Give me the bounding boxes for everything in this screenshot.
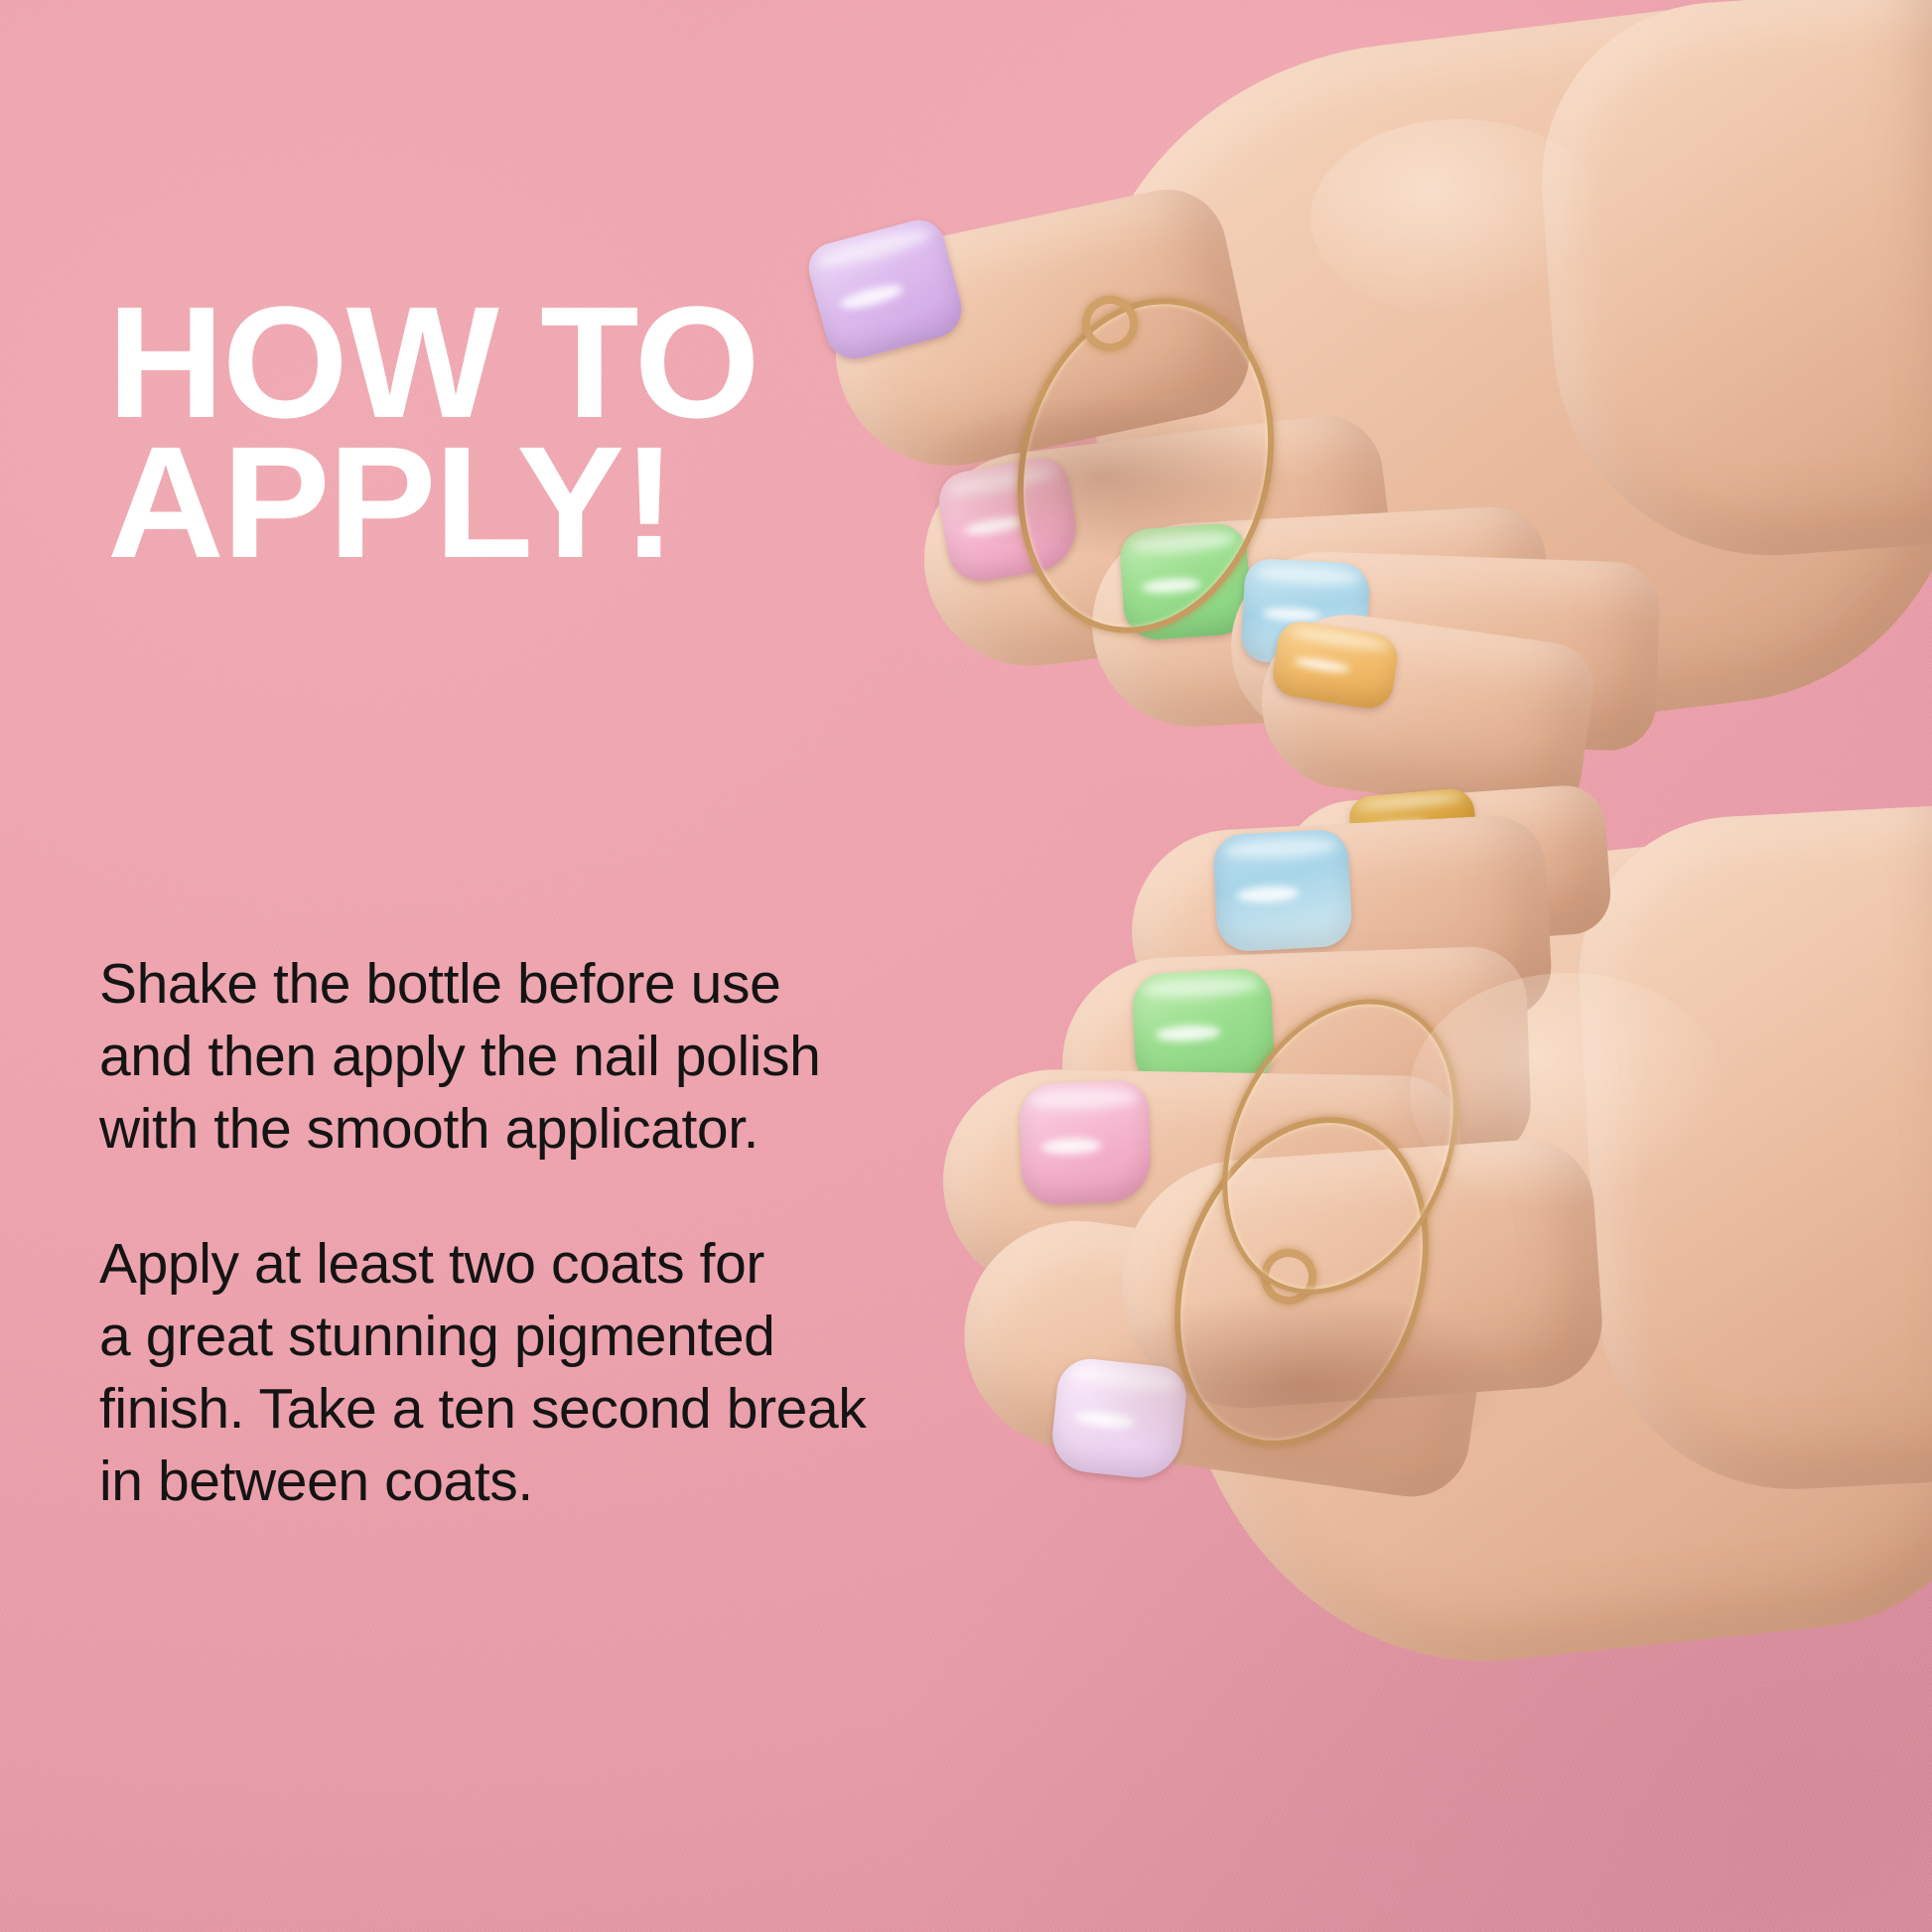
poster-canvas: HOW TO APPLY! Shake the bottle before us… xyxy=(0,0,1932,1932)
nail-gloss-highlight xyxy=(1223,836,1337,861)
hands-photograph xyxy=(794,0,1932,1932)
nail-gloss-highlight xyxy=(1255,565,1361,587)
instruction-paragraph-2: Apply at least two coats for a great stu… xyxy=(99,1228,953,1518)
upper-hand-knuckle-highlight xyxy=(1311,119,1608,318)
upper-hand-shadow xyxy=(913,397,1291,556)
nail-gloss-highlight xyxy=(1030,1087,1139,1110)
nail-gloss-highlight xyxy=(816,224,934,273)
nail-lower-pink xyxy=(1019,1080,1152,1205)
nail-gloss-highlight xyxy=(1358,791,1463,810)
instruction-paragraph-1: Shake the bottle before use and then app… xyxy=(99,948,953,1166)
nail-gloss-highlight xyxy=(1143,975,1260,1000)
page-title: HOW TO APPLY! xyxy=(107,293,958,573)
nail-lower-blue xyxy=(1212,829,1353,953)
lower-hand-knuckle-highlight xyxy=(1410,973,1727,1211)
lower-hand-shadow xyxy=(1092,1291,1509,1479)
